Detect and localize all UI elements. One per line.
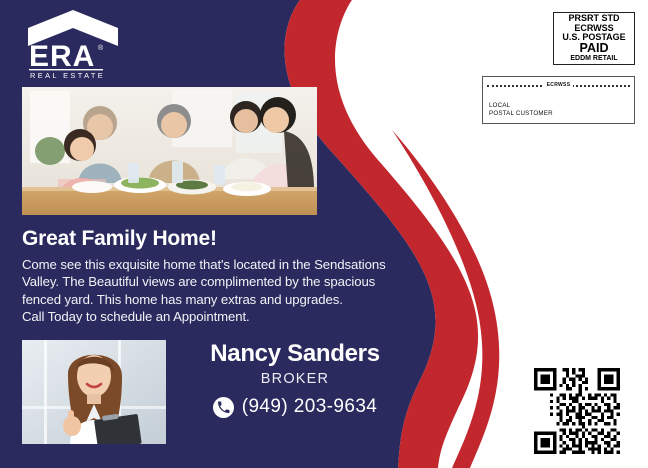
hero-photo	[22, 87, 317, 215]
phone-icon	[213, 397, 234, 418]
era-wordmark: ERA	[29, 40, 95, 73]
agent-phone-number: (949) 203-9634	[242, 396, 378, 418]
agent-name: Nancy Sanders	[185, 340, 405, 368]
qr-code[interactable]	[531, 365, 623, 457]
agent-title: BROKER	[185, 371, 405, 387]
era-logo: ERA ® REAL ESTATE	[18, 8, 128, 80]
page-title: Great Family Home!	[22, 228, 422, 250]
indicia-paid: PAID	[580, 42, 609, 55]
agent-headshot	[22, 340, 166, 444]
ecrwss-label: ECRWSS	[544, 82, 574, 88]
address-block: ECRWSS LOCAL POSTAL CUSTOMER	[482, 76, 635, 124]
trademark-symbol: ®	[98, 44, 104, 52]
recipient-address: LOCAL POSTAL CUSTOMER	[489, 102, 553, 118]
indicia-line-5: EDDM RETAIL	[570, 55, 617, 62]
postcard-mailer: ERA ® REAL ESTATE	[0, 0, 648, 468]
ecrwss-rule: ECRWSS	[483, 81, 634, 89]
postage-indicia: PRSRT STD ECRWSS U.S. POSTAGE PAID EDDM …	[553, 12, 635, 65]
era-tagline: REAL ESTATE	[30, 71, 105, 80]
agent-phone-row[interactable]: (949) 203-9634	[185, 396, 405, 418]
offer-description: Come see this exquisite home that's loca…	[22, 256, 414, 326]
